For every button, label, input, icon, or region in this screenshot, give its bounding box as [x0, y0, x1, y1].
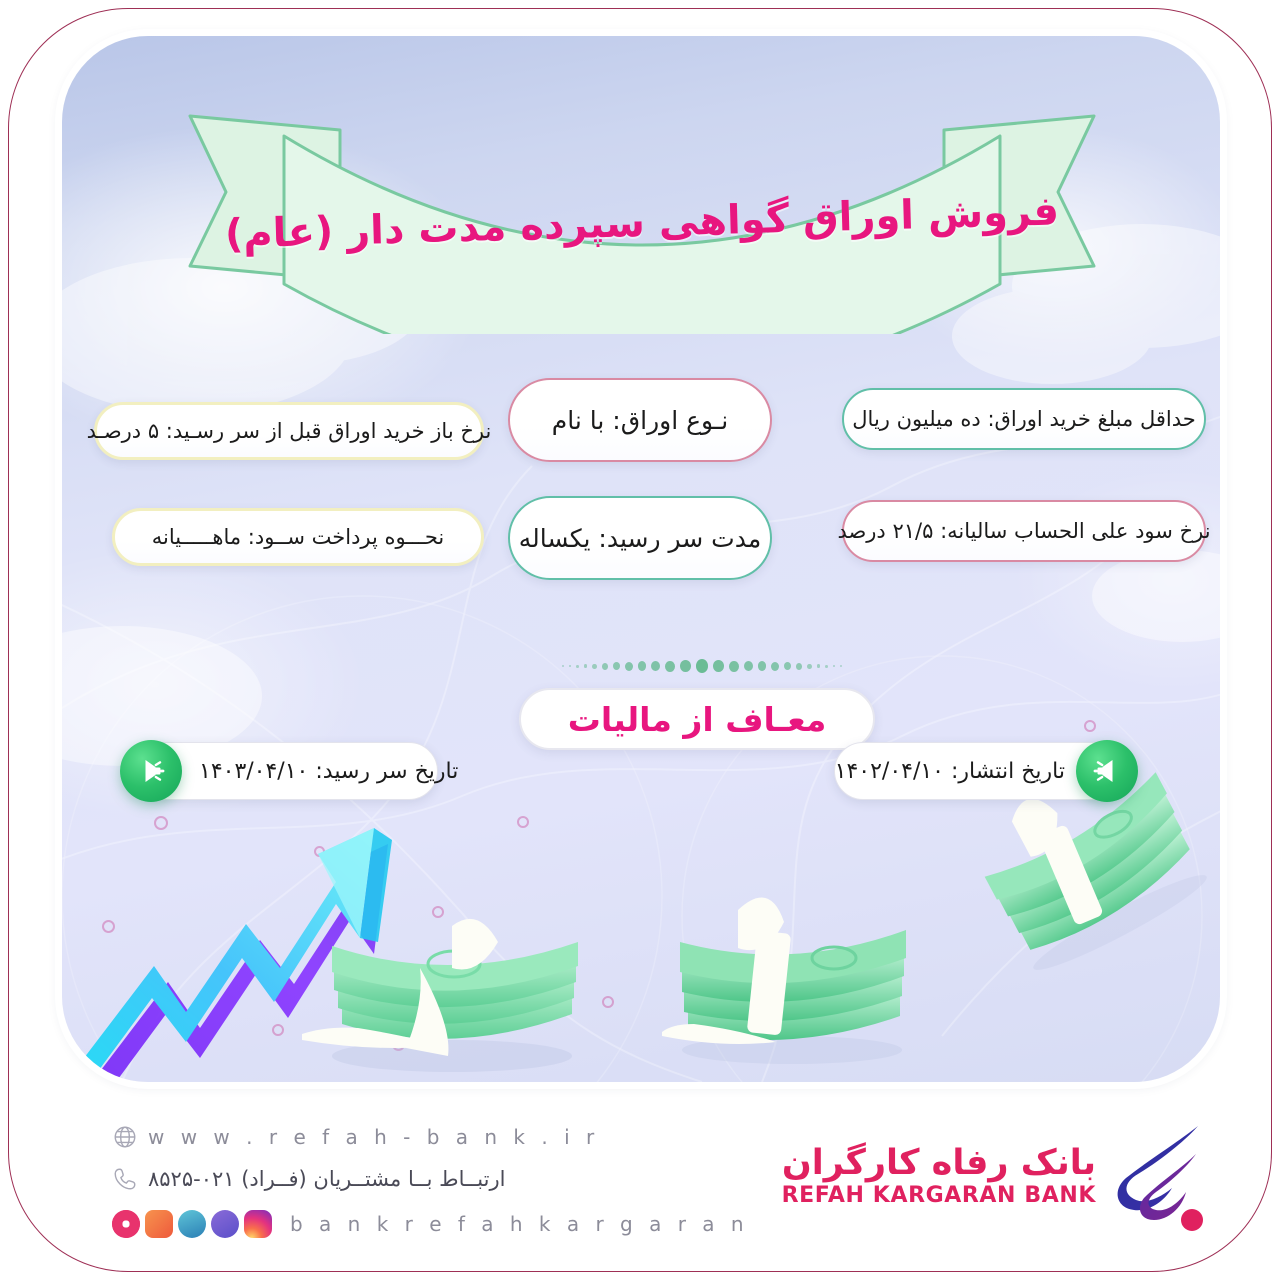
- divider-dot: [758, 661, 766, 671]
- refah-swoosh-logo-icon: [1112, 1120, 1216, 1232]
- footer-social-handle: b a n k r e f a h k a r g a r a n: [290, 1212, 749, 1236]
- divider-dot: [592, 664, 596, 669]
- divider-dot: [771, 662, 779, 671]
- poster-panel: فروش اوراق گواهی سپرده مدت دار (عام) حدا…: [62, 36, 1220, 1082]
- divider-dot: [807, 664, 811, 669]
- decor-ring: [602, 996, 614, 1008]
- divider-dot: [584, 664, 588, 668]
- banknote-bundle-illustration: [642, 866, 942, 1066]
- instagram-icon[interactable]: [244, 1210, 272, 1238]
- info-box-early-buyback-rate[interactable]: نرخ باز خرید اوراق قبل از سر رسـید: ۵ در…: [94, 402, 484, 460]
- footer-website-text: w w w . r e f a h - b a n k . i r: [148, 1125, 599, 1149]
- divider-dot: [665, 661, 675, 672]
- divider-dot: [825, 665, 828, 668]
- soroush-icon[interactable]: [211, 1210, 239, 1238]
- info-box-label: مدت سر رسید: یکساله: [519, 524, 761, 553]
- social-icons-group: [112, 1210, 272, 1238]
- megaphone-icon: [1076, 740, 1138, 802]
- divider-dot: [625, 662, 633, 671]
- info-box-label: نرخ سود علی الحساب سالیانه: ۲۱/۵ درصد: [837, 519, 1210, 543]
- tax-exempt-badge: معـاف از مالیات: [519, 688, 875, 750]
- banknote-bundle-illustration: [302, 916, 602, 1076]
- dot-divider: [562, 656, 842, 676]
- divider-dot: [613, 662, 620, 670]
- divider-dot: [602, 663, 608, 670]
- logo-name-fa: بانک رفاه کارگران: [782, 1144, 1096, 1184]
- footer-website-row[interactable]: w w w . r e f a h - b a n k . i r: [112, 1124, 599, 1150]
- footer-phone-row[interactable]: ارتبــاط بــا مشتــریان (فــراد) ۰۲۱-۸۵۲…: [112, 1166, 505, 1192]
- aparat-icon[interactable]: [112, 1210, 140, 1238]
- info-box-min-purchase[interactable]: حداقل مبلغ خرید اوراق: ده میلیون ریال: [842, 388, 1206, 450]
- divider-dot: [638, 661, 646, 671]
- footer-phone-text: ارتبــاط بــا مشتــریان (فــراد) ۰۲۱-۸۵۲…: [148, 1167, 505, 1191]
- divider-dot: [796, 663, 802, 670]
- info-box-maturity-term[interactable]: مدت سر رسید: یکساله: [508, 496, 772, 580]
- footer-social-row[interactable]: b a n k r e f a h k a r g a r a n: [112, 1210, 749, 1238]
- info-box-label: نـوع اوراق: با نام: [552, 406, 728, 435]
- divider-dot: [651, 661, 660, 671]
- globe-icon: [112, 1124, 138, 1150]
- footer: w w w . r e f a h - b a n k . i r ارتبــ…: [0, 1096, 1280, 1280]
- divider-dot: [817, 664, 821, 668]
- info-box-bond-type[interactable]: نـوع اوراق: با نام: [508, 378, 772, 462]
- logo-name-en: REFAH KARGARAN BANK: [782, 1183, 1096, 1208]
- divider-dot: [833, 665, 835, 668]
- megaphone-icon: [120, 740, 182, 802]
- bank-logo: بانک رفاه کارگران REFAH KARGARAN BANK: [782, 1120, 1216, 1232]
- divider-dot: [569, 665, 571, 668]
- eitaa-icon[interactable]: [145, 1210, 173, 1238]
- poster-root: فروش اوراق گواهی سپرده مدت دار (عام) حدا…: [0, 0, 1280, 1280]
- info-box-label: نحـــوه پرداخت ســود: ماهـــــیانه: [152, 525, 444, 549]
- info-box-label: حداقل مبلغ خرید اوراق: ده میلیون ریال: [852, 407, 1195, 431]
- date-badge-label: تاریخ سر رسید: ۱۴۰۳/۰۴/۱۰: [199, 759, 458, 784]
- info-box-annual-profit-rate[interactable]: نرخ سود علی الحساب سالیانه: ۲۱/۵ درصد: [842, 500, 1206, 562]
- divider-dot: [576, 665, 579, 668]
- date-badge-maturity-date[interactable]: تاریخ سر رسید: ۱۴۰۳/۰۴/۱۰: [138, 742, 438, 800]
- divider-dot: [680, 660, 691, 672]
- divider-dot: [744, 661, 753, 671]
- info-box-profit-payment-method[interactable]: نحـــوه پرداخت ســود: ماهـــــیانه: [112, 508, 484, 566]
- title-ribbon: فروش اوراق گواهی سپرده مدت دار (عام): [172, 84, 1112, 334]
- divider-dot: [713, 660, 724, 672]
- decor-ring: [517, 816, 529, 828]
- logo-text-block: بانک رفاه کارگران REFAH KARGARAN BANK: [782, 1144, 1096, 1209]
- divider-dot: [696, 659, 708, 673]
- date-badge-label: تاریخ انتشار: ۱۴۰۲/۰۴/۱۰: [835, 759, 1065, 784]
- divider-dot: [729, 661, 739, 672]
- divider-dot: [562, 665, 564, 667]
- info-box-label: نرخ باز خرید اوراق قبل از سر رسـید: ۵ در…: [87, 419, 492, 443]
- phone-icon: [112, 1166, 138, 1192]
- divider-dot: [784, 662, 791, 670]
- tax-exempt-label: معـاف از مالیات: [568, 700, 827, 739]
- bale-icon[interactable]: [178, 1210, 206, 1238]
- divider-dot: [840, 665, 842, 667]
